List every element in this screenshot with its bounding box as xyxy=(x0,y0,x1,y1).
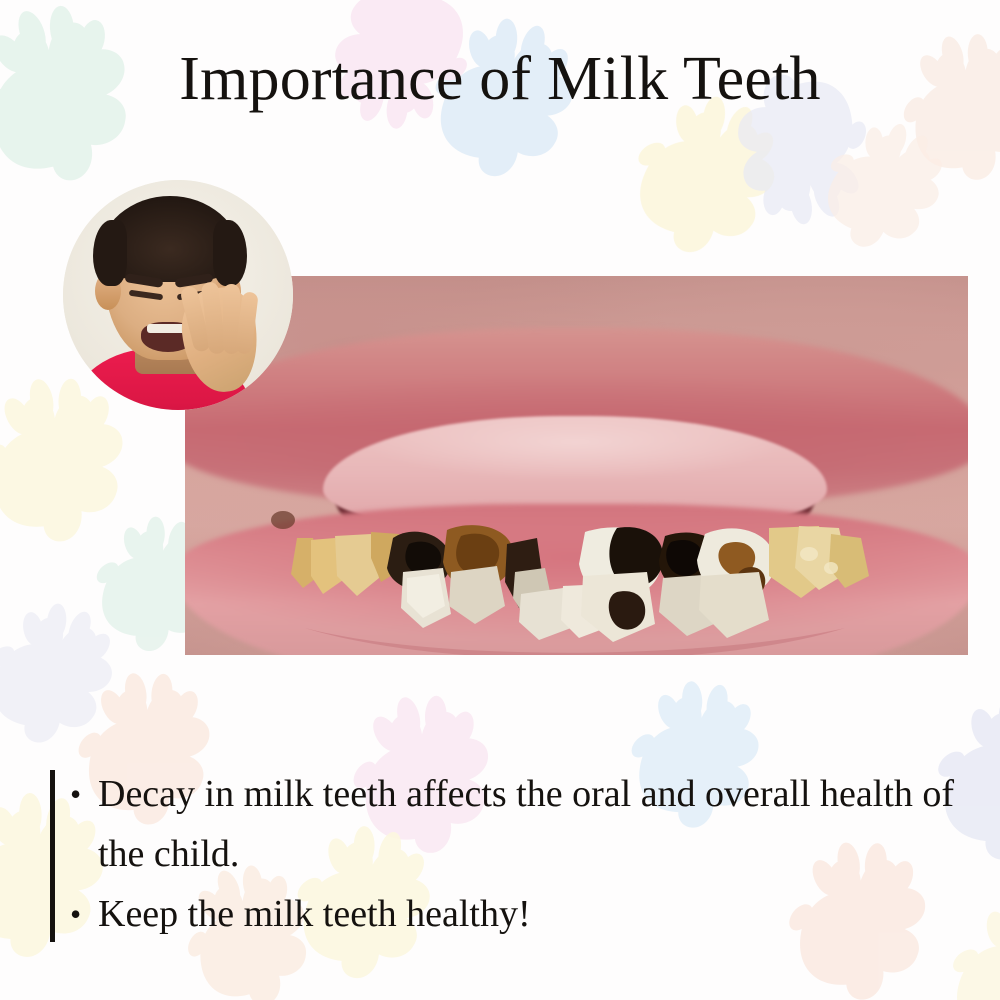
poster-canvas: Importance of Milk Teeth xyxy=(0,0,1000,1000)
child-with-toothache-photo xyxy=(63,180,293,410)
bullet-list: • Decay in milk teeth affects the oral a… xyxy=(70,764,970,944)
decayed-milk-teeth-photo xyxy=(185,276,968,655)
bullet-marker-icon: • xyxy=(70,884,98,944)
page-title: Importance of Milk Teeth xyxy=(0,44,1000,114)
bullet-text: Keep the milk teeth healthy! xyxy=(98,884,970,944)
bullet-text: Decay in milk teeth affects the oral and… xyxy=(98,764,970,884)
list-item: • Decay in milk teeth affects the oral a… xyxy=(70,764,970,884)
list-item: • Keep the milk teeth healthy! xyxy=(70,884,970,944)
teeth-illustration xyxy=(185,276,968,655)
bullet-accent-bar xyxy=(50,770,55,942)
bullet-marker-icon: • xyxy=(70,764,98,824)
